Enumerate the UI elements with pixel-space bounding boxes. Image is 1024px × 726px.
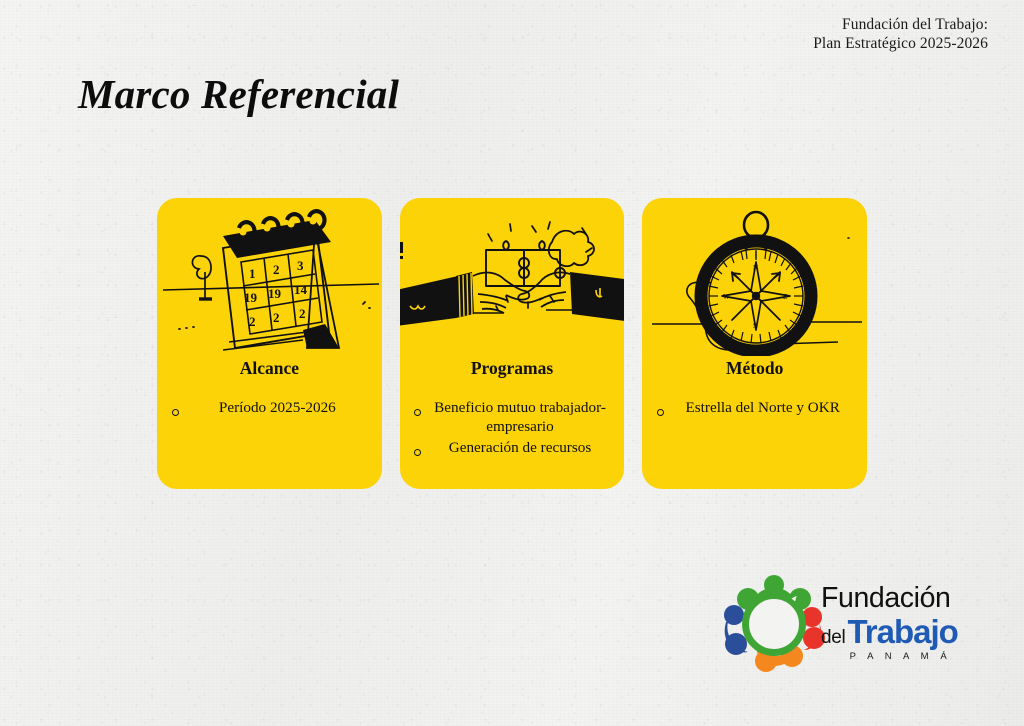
bullet-icon: [652, 398, 668, 417]
bullet-icon: [167, 398, 183, 417]
card-bullets: Beneficio mutuo trabajador-empresario Ge…: [400, 398, 625, 458]
list-item: Beneficio mutuo trabajador-empresario: [410, 398, 615, 437]
logo-country: P A N A M Á: [821, 651, 986, 662]
svg-text:S: S: [753, 322, 757, 330]
card-heading: Alcance: [157, 358, 382, 379]
list-item: Generación de recursos: [410, 438, 615, 457]
svg-text:19: 19: [244, 290, 258, 305]
fundacion-del-trabajo-logo-icon: [722, 572, 826, 672]
slide-header: Fundación del Trabajo: Plan Estratégico …: [813, 16, 988, 54]
card-alcance[interactable]: 1 2 3 19 19 14 2 2 2: [157, 198, 382, 489]
logo-line-del-trabajo: delTrabajo: [821, 615, 986, 648]
svg-text:E: E: [783, 293, 787, 301]
bullet-text: Generación de recursos: [426, 438, 615, 457]
bullet-text: Período 2025-2026: [183, 398, 372, 417]
bullet-text: Estrella del Norte y OKR: [668, 398, 857, 417]
svg-text:W: W: [723, 293, 730, 301]
logo-word-del: del: [821, 627, 845, 648]
svg-text:14: 14: [294, 282, 308, 297]
card-heading: Método: [642, 358, 867, 379]
svg-text:2: 2: [273, 310, 280, 325]
card-programas[interactable]: Programas Beneficio mutuo trabajador-emp…: [400, 198, 625, 489]
card-metodo[interactable]: N S E W Método Estrella del Norte y OKR: [642, 198, 867, 489]
bullet-icon: [410, 438, 426, 457]
cards-row: 1 2 3 19 19 14 2 2 2: [157, 198, 867, 489]
svg-text:2: 2: [249, 314, 256, 329]
logo-wordmark: Fundación delTrabajo P A N A M Á: [821, 584, 986, 662]
svg-text:N: N: [753, 264, 758, 272]
list-item: Estrella del Norte y OKR: [652, 398, 857, 417]
svg-text:1: 1: [249, 266, 256, 281]
bullet-icon: [410, 398, 426, 417]
logo-line-fundacion: Fundación: [821, 584, 986, 613]
card-heading: Programas: [400, 358, 625, 379]
slide-canvas: Fundación del Trabajo: Plan Estratégico …: [0, 0, 1024, 726]
page-title: Marco Referencial: [78, 70, 399, 118]
desk-calendar-icon: 1 2 3 19 19 14 2 2 2: [157, 198, 382, 356]
compass-icon: N S E W: [642, 198, 867, 356]
logo-word-trabajo: Trabajo: [847, 613, 957, 650]
svg-text:19: 19: [268, 286, 282, 301]
svg-text:3: 3: [297, 258, 304, 273]
header-line-1: Fundación del Trabajo:: [813, 16, 988, 35]
card-bullets: Estrella del Norte y OKR: [642, 398, 867, 418]
list-item: Período 2025-2026: [167, 398, 372, 417]
organization-logo: Fundación delTrabajo P A N A M Á: [722, 568, 984, 676]
svg-text:2: 2: [299, 306, 306, 321]
header-line-2: Plan Estratégico 2025-2026: [813, 35, 988, 54]
svg-text:2: 2: [273, 262, 280, 277]
card-bullets: Período 2025-2026: [157, 398, 382, 418]
bullet-text: Beneficio mutuo trabajador-empresario: [426, 398, 615, 437]
handshake-puzzle-icon: [400, 198, 625, 356]
